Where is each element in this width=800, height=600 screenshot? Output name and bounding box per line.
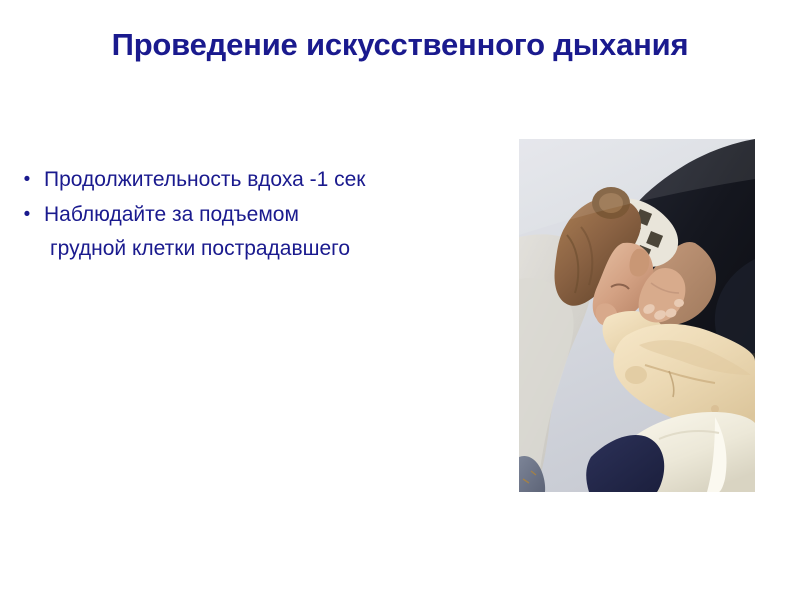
list-item-line-primary: Наблюдайте за подъемом (44, 198, 488, 232)
presentation-slide: Проведение искусственного дыхания • Прод… (0, 0, 800, 600)
list-item-line-primary: Продолжительность вдоха -1 сек (44, 163, 488, 197)
bullet-list: • Продолжительность вдоха -1 сек • Наблю… (18, 163, 488, 267)
list-item: • Продолжительность вдоха -1 сек (18, 163, 488, 197)
cpr-rescue-breathing-photo (519, 139, 755, 492)
photo-illustration (519, 139, 755, 492)
bullet-marker-icon: • (20, 163, 34, 197)
page-title: Проведение искусственного дыхания (40, 26, 760, 64)
list-item-line-continuation: грудной клетки пострадавшего (44, 232, 488, 266)
list-item: • Наблюдайте за подъемом грудной клетки … (18, 198, 488, 266)
bullet-marker-icon: • (20, 198, 34, 232)
